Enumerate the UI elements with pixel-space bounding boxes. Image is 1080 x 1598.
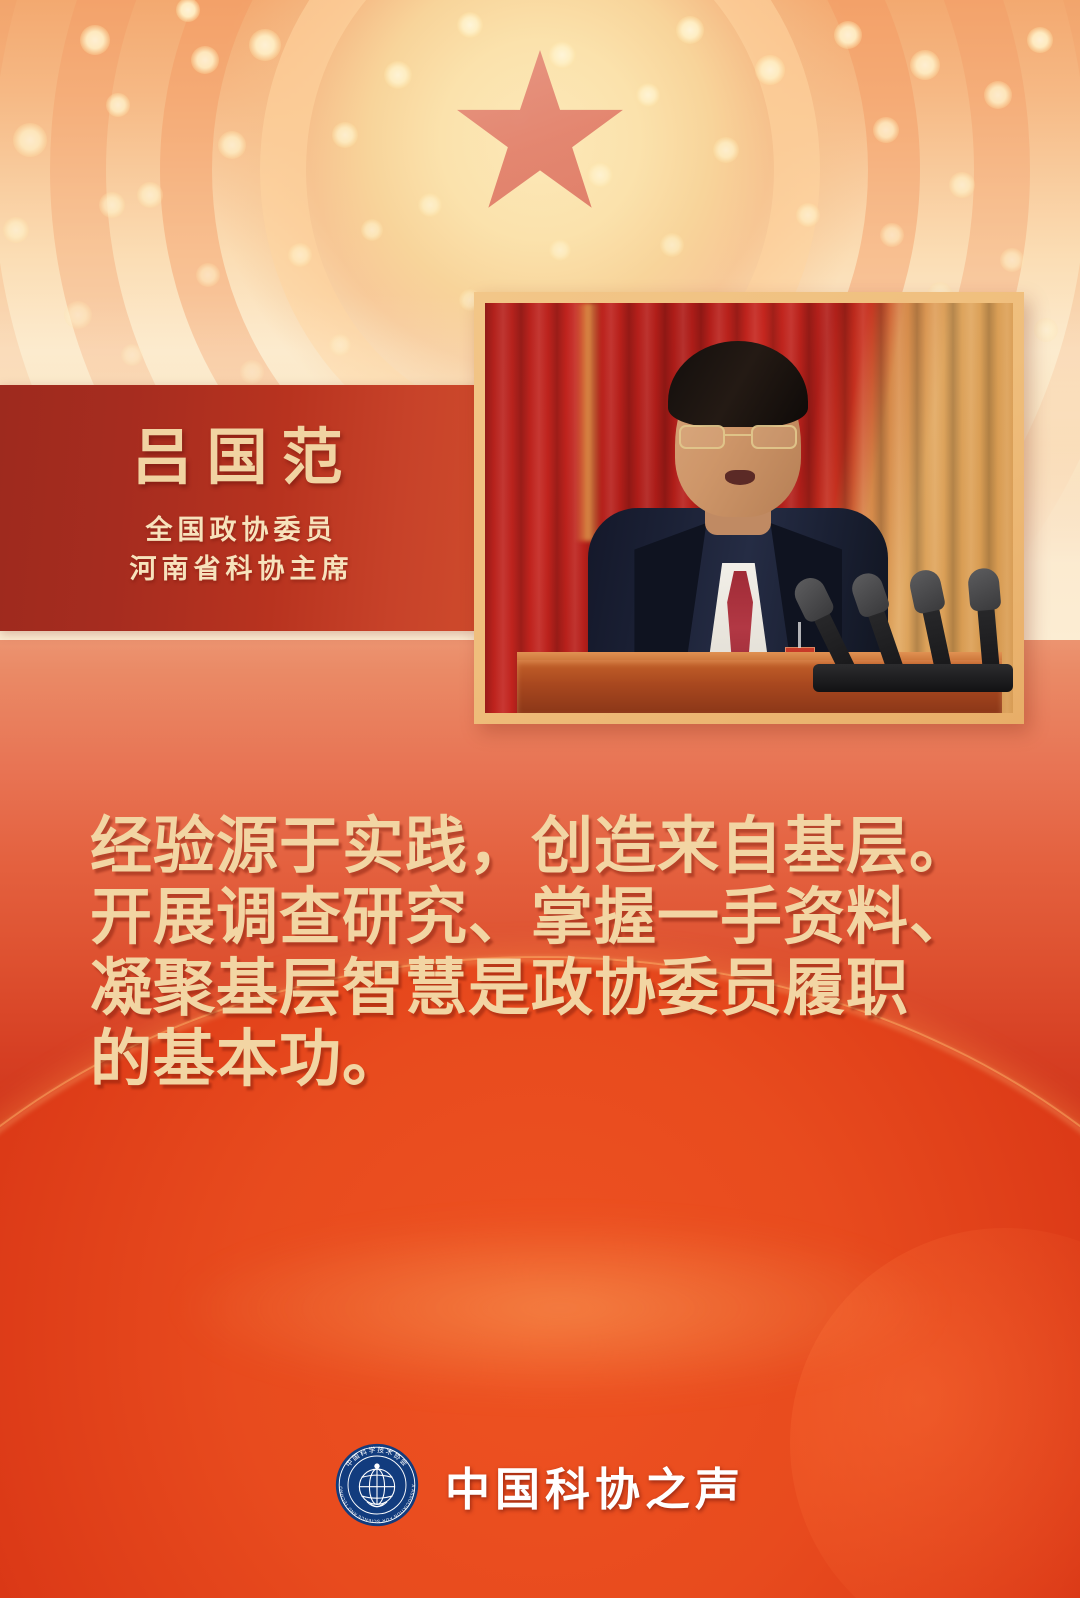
profile-titles: 全国政协委员 河南省科协主席 [130,511,354,588]
portrait-photo [485,303,1013,713]
profile-title-line-2: 河南省科协主席 [130,550,354,588]
microphone-base [813,664,1013,692]
lens-left [679,425,725,449]
lens-right [751,425,797,449]
profile-name-band: 吕国范 全国政协委员 河南省科协主席 [0,385,478,631]
mouth [725,470,755,485]
profile-name: 吕国范 [131,428,356,489]
footer-brand-text: 中国科协之声 [445,1453,745,1518]
profile-title-line-1: 全国政协委员 [130,511,354,549]
quote-line: 开展调查研究、掌握一手资料、 [90,883,990,954]
portrait-photo-frame [474,292,1024,724]
quote-text: 经验源于实践，创造来自基层。 开展调查研究、掌握一手资料、 凝聚基层智慧是政协委… [90,812,990,1096]
microphone-cluster [798,534,1013,684]
quote-line: 的基本功。 [90,1025,990,1096]
footer: 中国科学技术协会 CHINA ASSOCIATION FOR SCIENCE A… [0,1438,1080,1532]
quote-line: 凝聚基层智慧是政协委员履职 [90,954,990,1025]
poster-canvas: 吕国范 全国政协委员 河南省科协主席 [0,0,1080,1598]
cast-emblem-icon: 中国科学技术协会 CHINA ASSOCIATION FOR SCIENCE A… [335,1443,419,1527]
glasses-bridge [725,434,751,436]
eyeglasses-icon [679,425,797,451]
quote-line: 经验源于实践，创造来自基层。 [90,812,990,883]
